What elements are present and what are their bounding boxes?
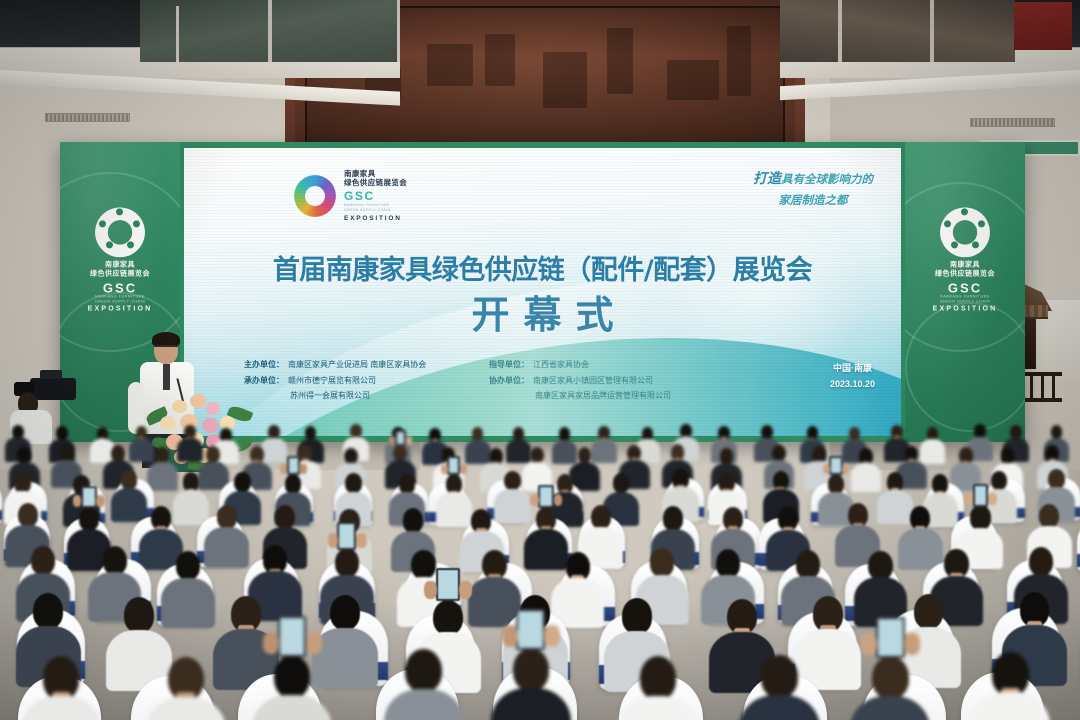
smartphone	[516, 609, 545, 650]
raised-hand	[544, 625, 560, 647]
audience-head	[796, 550, 820, 579]
smartphone	[337, 522, 356, 549]
audience-head	[285, 474, 302, 494]
balcony-right	[780, 0, 1080, 78]
guidance-label: 指导单位：	[489, 357, 529, 373]
audience-head	[344, 448, 358, 465]
audience-shoulders	[850, 696, 930, 720]
audience-head	[613, 473, 630, 493]
raised-hand	[96, 495, 105, 507]
organizer-value-2: 苏州得一会展有限公司	[290, 388, 370, 404]
phone-screen	[518, 611, 543, 648]
audience-head	[1001, 447, 1015, 464]
audience-head	[761, 655, 797, 698]
panel-expo: EXPOSITION	[66, 306, 174, 313]
panel-expo: EXPOSITION	[911, 306, 1019, 313]
smartphone	[278, 616, 307, 657]
chair	[0, 481, 2, 523]
audience-head	[650, 548, 674, 577]
audience-head	[513, 648, 549, 691]
slogan-line1-rest: 具有全球影响力的	[781, 174, 873, 186]
audience-head	[393, 445, 407, 462]
audience-head	[305, 426, 317, 440]
smartphone	[973, 484, 989, 507]
balcony-right-glass	[780, 0, 1015, 62]
phone-screen	[83, 488, 95, 507]
audience-head	[124, 597, 154, 632]
event-subtitle: 开幕式	[184, 284, 901, 339]
audience-member	[855, 656, 926, 720]
raised-hand	[530, 494, 539, 506]
audience-head	[914, 594, 944, 629]
audience-head	[18, 503, 38, 527]
audience-head	[335, 548, 359, 577]
audience-shoulders	[491, 688, 571, 720]
panel-cn-line2: 绿色供应链展览会	[911, 270, 1019, 279]
audience-head	[622, 598, 652, 633]
phone-screen	[289, 458, 298, 473]
audience-head	[121, 470, 138, 490]
raised-hand	[502, 625, 518, 647]
audience-member	[164, 551, 212, 627]
logo-sub-line2: GREEN SUPPLY CHAIN	[344, 208, 407, 213]
audience-head	[772, 445, 786, 462]
audience-shoulders	[146, 697, 226, 720]
audience-head	[405, 649, 441, 692]
organizer-label: 承办单位：	[244, 373, 284, 389]
audience-head	[14, 473, 31, 493]
phone-screen	[339, 524, 354, 547]
camera-top-handle	[40, 370, 62, 379]
balcony-left-glass	[140, 0, 400, 62]
audience-head	[176, 551, 200, 580]
audience-head	[79, 507, 99, 531]
audience-member	[256, 655, 327, 720]
audience-member	[388, 649, 459, 720]
raised-hand	[328, 533, 339, 548]
audience-head	[974, 424, 986, 438]
side-panel-logo-left: 南康家具 绿色供应链展览会 GSC NANKANG FURNITURE GREE…	[66, 207, 174, 312]
gsc-ring-icon	[95, 207, 145, 257]
colorful-ring-icon	[294, 175, 336, 217]
raised-hand	[964, 493, 973, 505]
audience-head	[872, 656, 908, 699]
audience-member	[496, 471, 529, 523]
audience-head	[970, 505, 990, 529]
side-panel-logo-right: 南康家具 绿色供应链展览会 GSC NANKANG FURNITURE GREE…	[911, 207, 1019, 312]
led-screen: 南康家具 绿色供应链展览会 GSC NANKANG FURNITURE GREE…	[184, 148, 901, 436]
audience-head	[33, 593, 63, 628]
audience-head	[31, 546, 55, 575]
smartphone	[287, 456, 300, 475]
smartphone	[538, 485, 554, 508]
event-logo: 南康家具 绿色供应链展览会 GSC NANKANG FURNITURE GREE…	[294, 170, 407, 222]
raised-hand	[459, 581, 472, 599]
date-text: 2023.10.20	[830, 376, 875, 392]
guidance-value: 江西省家具协会	[533, 357, 589, 373]
audience-head	[504, 471, 521, 491]
raised-hand	[904, 633, 920, 655]
audience-shoulders	[161, 578, 214, 628]
logo-cn-line2: 绿色供应链展览会	[344, 179, 407, 188]
place-date: 中国·南康 2023.10.20	[830, 360, 875, 392]
audience-shoulders	[252, 695, 332, 720]
audience-head	[345, 473, 362, 493]
audience-head	[663, 506, 683, 530]
phone-screen	[397, 432, 404, 444]
audience-head	[716, 549, 740, 578]
host-label: 主办单位：	[244, 357, 284, 373]
audience-member	[495, 648, 566, 720]
audience-shoulders	[147, 462, 178, 491]
audience-head	[403, 508, 423, 532]
audience-member	[149, 447, 176, 491]
audience-head	[559, 427, 571, 441]
audience-head	[828, 474, 845, 494]
audience-head	[1010, 425, 1022, 439]
panel-gsc: GSC	[66, 281, 174, 294]
organizer-value-1: 赣州市德宁展览有限公司	[288, 373, 376, 389]
phone-screen	[975, 486, 987, 505]
logo-expo: EXPOSITION	[344, 215, 407, 223]
chair-sash	[0, 510, 2, 520]
photo-scene: 南康家具 绿色供应链展览会 GSC NANKANG FURNITURE GREE…	[0, 0, 1080, 720]
audience-member	[975, 652, 1046, 720]
audience-head	[720, 448, 734, 465]
raised-hand	[460, 464, 467, 474]
phone-screen	[449, 458, 458, 473]
raised-hand	[424, 581, 437, 599]
audience-head	[530, 447, 544, 464]
video-camera	[14, 368, 88, 414]
audience-shoulders	[384, 689, 464, 720]
audience-member	[150, 657, 221, 720]
panel-gsc: GSC	[911, 281, 1019, 294]
audience-head	[761, 425, 773, 439]
panel-sub-line2: GREEN SUPPLY CHAIN	[911, 299, 1019, 304]
speaker-tie	[163, 364, 170, 390]
speaker-glasses	[154, 345, 178, 350]
raised-hand	[389, 436, 395, 444]
seated-audience	[0, 420, 1080, 720]
side-panel-right: 南康家具 绿色供应链展览会 GSC NANKANG FURNITURE GREE…	[905, 142, 1025, 442]
audience-head	[234, 472, 251, 492]
phone-screen	[540, 487, 552, 506]
raised-hand	[356, 533, 367, 548]
raised-hand	[263, 632, 279, 654]
audience-head	[155, 447, 169, 464]
organizers-right: 指导单位： 江西省家具协会 协办单位： 南康区家具小镇园区管理有限公司 南康区家…	[489, 357, 671, 404]
audience-shoulders	[21, 696, 101, 720]
audience-shoulders	[851, 463, 882, 492]
audience-head	[399, 474, 416, 494]
raised-hand	[842, 464, 849, 474]
audience-head	[56, 426, 68, 440]
audience-member	[852, 448, 879, 492]
raised-hand	[861, 633, 877, 655]
audience-shoulders	[618, 696, 698, 720]
audience-member	[622, 656, 693, 720]
host-value: 南康区家具产业促进局 南康区家具协会	[288, 357, 426, 373]
panel-cn-line1: 南康家具	[911, 261, 1019, 270]
panel-cn-line1: 南康家具	[66, 261, 174, 270]
smartphone	[829, 456, 842, 475]
audience-head	[1029, 547, 1053, 576]
audience-head	[275, 505, 295, 529]
audience-shoulders	[739, 695, 819, 720]
panel-sub-line2: GREEN SUPPLY CHAIN	[66, 299, 174, 304]
audience-head	[206, 446, 220, 463]
raised-hand	[823, 464, 830, 474]
audience-head	[411, 550, 435, 579]
audience-head	[1048, 469, 1065, 489]
raised-hand	[406, 436, 412, 444]
smartphone	[395, 430, 406, 446]
audience-member	[744, 655, 815, 720]
panel-cn-line2: 绿色供应链展览会	[66, 270, 174, 279]
audience-head	[472, 427, 484, 441]
audience-head	[578, 447, 592, 464]
audience-head	[268, 425, 280, 439]
audience-head	[17, 447, 31, 464]
event-title: 首届南康家具绿色供应链（配件/配套）展览会	[184, 248, 901, 287]
camera-body	[30, 378, 76, 400]
air-vent-left	[45, 113, 130, 122]
air-vent-right	[970, 118, 1055, 127]
smartphone	[436, 568, 459, 601]
audience-head	[274, 655, 310, 698]
smartphone	[876, 617, 905, 658]
audience-head	[59, 444, 73, 461]
raised-hand	[73, 495, 82, 507]
audience-head	[103, 546, 127, 575]
audience-member	[26, 656, 97, 720]
audience-head	[591, 505, 611, 529]
audience-member	[857, 551, 905, 627]
slogan-line2: 家居制造之都	[753, 192, 873, 212]
audience-head	[640, 656, 676, 699]
audience-head	[991, 471, 1008, 491]
coorganizer-label: 协办单位：	[489, 373, 529, 389]
raised-hand	[306, 632, 322, 654]
raised-hand	[441, 464, 448, 474]
slogan-brush-1: 打造	[753, 172, 781, 187]
place-text: 中国·南康	[830, 360, 875, 376]
smartphone	[447, 456, 460, 475]
coorganizer-value-1: 南康区家具小镇园区管理有限公司	[533, 373, 653, 389]
audience-member	[207, 505, 247, 568]
phone-screen	[280, 618, 305, 655]
coorganizer-value-2: 南康区家具家居品牌运营管理有限公司	[535, 388, 671, 404]
phone-screen	[878, 619, 903, 656]
raised-hand	[280, 464, 287, 474]
audience-head	[868, 551, 892, 580]
phone-screen	[831, 458, 840, 473]
audience-head	[217, 505, 237, 529]
balcony-left	[0, 0, 400, 78]
audience-shoulders	[970, 692, 1050, 720]
balcony-red-panel	[1014, 2, 1072, 50]
smartphone	[81, 486, 97, 509]
audience-head	[1039, 504, 1059, 528]
audience-head	[433, 600, 463, 635]
event-slogan: 打造具有全球影响力的 家居制造之都	[753, 168, 873, 211]
phone-screen	[438, 570, 457, 599]
raised-hand	[988, 493, 997, 505]
raised-hand	[299, 464, 306, 474]
audience-head	[330, 595, 360, 630]
audience-head	[812, 446, 826, 463]
logo-gsc: GSC	[344, 189, 407, 203]
audience-head	[111, 445, 125, 462]
gsc-ring-icon	[940, 207, 990, 257]
audience-member	[178, 425, 201, 462]
organizers-left: 主办单位： 南康区家具产业促进局 南康区家具协会 承办单位： 赣州市德宁展览有限…	[244, 357, 426, 404]
